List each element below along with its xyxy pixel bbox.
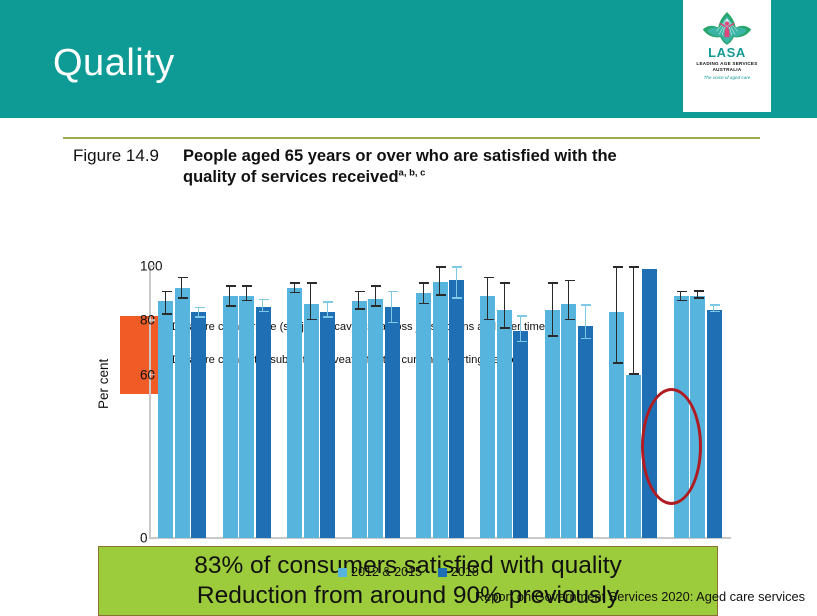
error-bar	[697, 290, 698, 298]
error-bar-cap	[242, 285, 252, 287]
bar-group	[416, 266, 464, 538]
bar-group	[480, 266, 528, 538]
logo-subtitle: LEADING AGE SERVICESAUSTRALIA	[696, 61, 757, 73]
error-bar-cap	[710, 311, 720, 313]
error-bar-cap	[323, 316, 333, 318]
y-tick-mark	[149, 265, 155, 267]
error-bar-cap	[517, 315, 527, 317]
error-bar	[229, 285, 230, 307]
bar	[239, 296, 254, 538]
error-bar-cap	[629, 373, 639, 375]
bar	[385, 307, 400, 538]
error-bar	[181, 277, 182, 299]
error-bar-cap	[323, 301, 333, 303]
error-bar-cap	[195, 316, 205, 318]
y-tick-mark	[149, 537, 155, 539]
bar	[545, 310, 560, 538]
error-bar-cap	[629, 266, 639, 268]
error-bar	[568, 280, 569, 321]
error-bar-cap	[178, 297, 188, 299]
error-bar-cap	[613, 362, 623, 364]
error-bar-cap	[517, 341, 527, 343]
error-bar-cap	[259, 299, 269, 301]
bar	[416, 293, 431, 538]
error-bar-cap	[436, 294, 446, 296]
error-bar	[294, 282, 295, 293]
legend-swatch	[338, 568, 347, 577]
error-bar-cap	[226, 305, 236, 307]
callout-box: 83% of consumers satisfied with quality …	[98, 546, 718, 616]
error-bar-cap	[677, 300, 687, 302]
error-bar	[487, 277, 488, 321]
error-bar-cap	[355, 308, 365, 310]
error-bar	[585, 304, 586, 339]
error-bar	[504, 282, 505, 328]
bar	[223, 296, 238, 538]
bar	[513, 331, 528, 538]
error-bar-cap	[307, 319, 317, 321]
error-bar	[310, 282, 311, 320]
bar	[578, 326, 593, 538]
error-bar-cap	[290, 282, 300, 284]
legend-item: 2018	[438, 565, 479, 579]
y-tick-mark	[149, 320, 155, 322]
error-bar	[262, 299, 263, 313]
error-bar-cap	[307, 282, 317, 284]
error-bar-cap	[548, 282, 558, 284]
error-bar-cap	[242, 300, 252, 302]
error-bar	[375, 285, 376, 307]
bar	[626, 375, 641, 538]
error-bar-cap	[500, 282, 510, 284]
error-bar	[358, 291, 359, 310]
aust-highlight-ellipse	[641, 388, 702, 505]
error-bar-cap	[436, 266, 446, 268]
bar-group	[287, 266, 335, 538]
error-bar-cap	[581, 338, 591, 340]
error-bar-cap	[452, 297, 462, 299]
error-bar-cap	[452, 266, 462, 268]
legend-label: 2018	[451, 565, 479, 579]
plot-area	[150, 266, 730, 538]
error-bar	[423, 282, 424, 304]
error-bar	[165, 291, 166, 315]
error-bar	[391, 291, 392, 324]
lasa-leaf-figure-logo-icon	[698, 9, 756, 47]
error-bar	[456, 266, 457, 299]
error-bar	[327, 301, 328, 317]
bar	[561, 304, 576, 538]
bar	[158, 301, 173, 538]
logo-wordmark: LASA	[708, 46, 746, 59]
bar-group	[223, 266, 271, 538]
error-bar-cap	[259, 311, 269, 313]
error-bar	[616, 266, 617, 364]
error-bar-cap	[371, 285, 381, 287]
page-title: Quality	[53, 44, 175, 82]
error-bar-cap	[419, 303, 429, 305]
error-bar	[552, 282, 553, 336]
error-bar-cap	[226, 285, 236, 287]
error-bar-cap	[613, 266, 623, 268]
error-bar	[713, 304, 714, 312]
logo-tagline: The voice of aged care	[704, 76, 751, 81]
legend-item: 2012 & 2015	[338, 565, 422, 579]
error-bar-cap	[178, 277, 188, 279]
legend-swatch	[438, 568, 447, 577]
error-bar-cap	[290, 292, 300, 294]
error-bar-cap	[500, 327, 510, 329]
legend-label: 2012 & 2015	[351, 565, 422, 579]
error-bar-cap	[694, 290, 704, 292]
header-divider	[0, 118, 817, 126]
error-bar-cap	[162, 291, 172, 293]
bar-group	[545, 266, 593, 538]
bar	[352, 301, 367, 538]
error-bar-cap	[388, 291, 398, 293]
error-bar-cap	[419, 282, 429, 284]
error-bar-cap	[565, 280, 575, 282]
bar-group	[352, 266, 400, 538]
bar	[707, 310, 722, 538]
bar	[433, 282, 448, 538]
bar	[191, 312, 206, 538]
slide-header: Quality LASA LEADING AGE SERVICESAUSTRAL…	[0, 0, 817, 118]
y-tick-mark	[149, 374, 155, 376]
bar	[449, 280, 464, 538]
error-bar-cap	[195, 307, 205, 309]
bar-chart: Per cent 06080100 NSWVicQldWASATasACTNTA…	[0, 126, 817, 612]
figure-panel: Figure 14.9 People aged 65 years or over…	[0, 126, 817, 612]
bar	[368, 299, 383, 538]
error-bar-cap	[710, 304, 720, 306]
bar	[287, 288, 302, 538]
error-bar	[439, 266, 440, 296]
error-bar-cap	[565, 319, 575, 321]
bar	[497, 310, 512, 538]
chart-legend: 2012 & 20152018	[0, 565, 817, 579]
error-bar	[680, 291, 681, 302]
error-bar-cap	[484, 277, 494, 279]
error-bar-cap	[484, 319, 494, 321]
error-bar-cap	[388, 322, 398, 324]
error-bar-cap	[548, 335, 558, 337]
bar	[256, 307, 271, 538]
error-bar	[246, 285, 247, 301]
error-bar-cap	[162, 313, 172, 315]
lasa-logo: LASA LEADING AGE SERVICESAUSTRALIA The v…	[683, 0, 771, 112]
bar	[320, 312, 335, 538]
error-bar-cap	[677, 291, 687, 293]
error-bar	[633, 266, 634, 375]
error-bar-cap	[581, 304, 591, 306]
y-axis-label: Per cent	[96, 359, 111, 409]
error-bar	[198, 307, 199, 318]
error-bar-cap	[371, 305, 381, 307]
bar-group	[158, 266, 206, 538]
bar	[480, 296, 495, 538]
error-bar-cap	[694, 297, 704, 299]
source-note: Report on Government Services 2020: Aged…	[475, 589, 805, 604]
bar	[304, 304, 319, 538]
error-bar	[520, 315, 521, 342]
bar	[175, 288, 190, 538]
error-bar-cap	[355, 291, 365, 293]
